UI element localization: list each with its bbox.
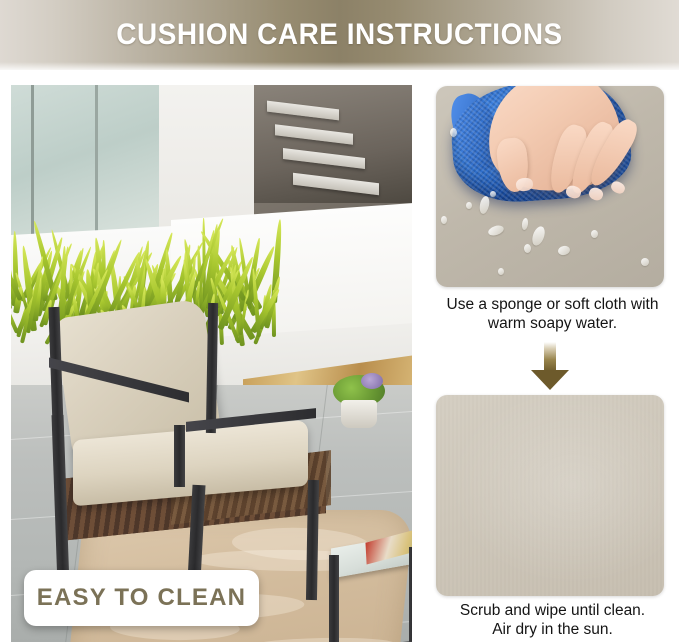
wipe-demo-photo	[436, 86, 664, 287]
step-2-caption-line-2: Air dry in the sun.	[428, 620, 677, 639]
water-droplet	[641, 258, 649, 266]
page-title: CUSHION CARE INSTRUCTIONS	[24, 0, 655, 70]
header-fade	[0, 62, 679, 76]
water-droplet	[490, 191, 496, 197]
water-droplet	[591, 230, 598, 238]
water-droplet	[557, 245, 571, 256]
header-banner: CUSHION CARE INSTRUCTIONS	[0, 0, 679, 70]
water-droplet	[521, 218, 529, 231]
rug-pattern	[246, 636, 396, 642]
water-droplet	[478, 195, 491, 214]
nail	[609, 179, 627, 195]
water-droplet	[466, 202, 472, 209]
down-arrow-icon	[531, 342, 569, 390]
step-1-caption-line-1: Use a sponge or soft cloth with	[428, 295, 677, 314]
step-2-caption: Scrub and wipe until clean. Air dry in t…	[428, 601, 677, 639]
step-1-caption-line-2: warm soapy water.	[428, 314, 677, 333]
plant-pot	[341, 400, 377, 428]
cushion-fabric-texture	[436, 395, 664, 596]
step-1-caption: Use a sponge or soft cloth with warm soa…	[428, 295, 677, 333]
easy-to-clean-badge: EASY TO CLEAN	[24, 570, 259, 626]
water-droplet	[498, 268, 504, 275]
water-droplet	[441, 216, 447, 224]
chair-arm-post	[174, 425, 185, 487]
water-droplet	[530, 225, 547, 248]
water-droplet	[450, 128, 457, 137]
water-droplet	[487, 224, 505, 238]
side-table-leg-left	[329, 555, 339, 642]
potted-plant-flower	[361, 373, 383, 389]
arrow-shaft	[544, 342, 556, 372]
side-table-leg-right	[409, 547, 412, 642]
water-droplet	[524, 244, 531, 253]
clean-cushion-photo	[436, 395, 664, 596]
step-2-caption-line-1: Scrub and wipe until clean.	[428, 601, 677, 620]
main-product-photo	[11, 85, 412, 642]
badge-label: EASY TO CLEAN	[37, 584, 246, 612]
infographic-root: CUSHION CARE INSTRUCTIONS	[0, 0, 679, 642]
arrow-head	[531, 370, 569, 390]
chair-leg-back-right	[306, 480, 319, 600]
